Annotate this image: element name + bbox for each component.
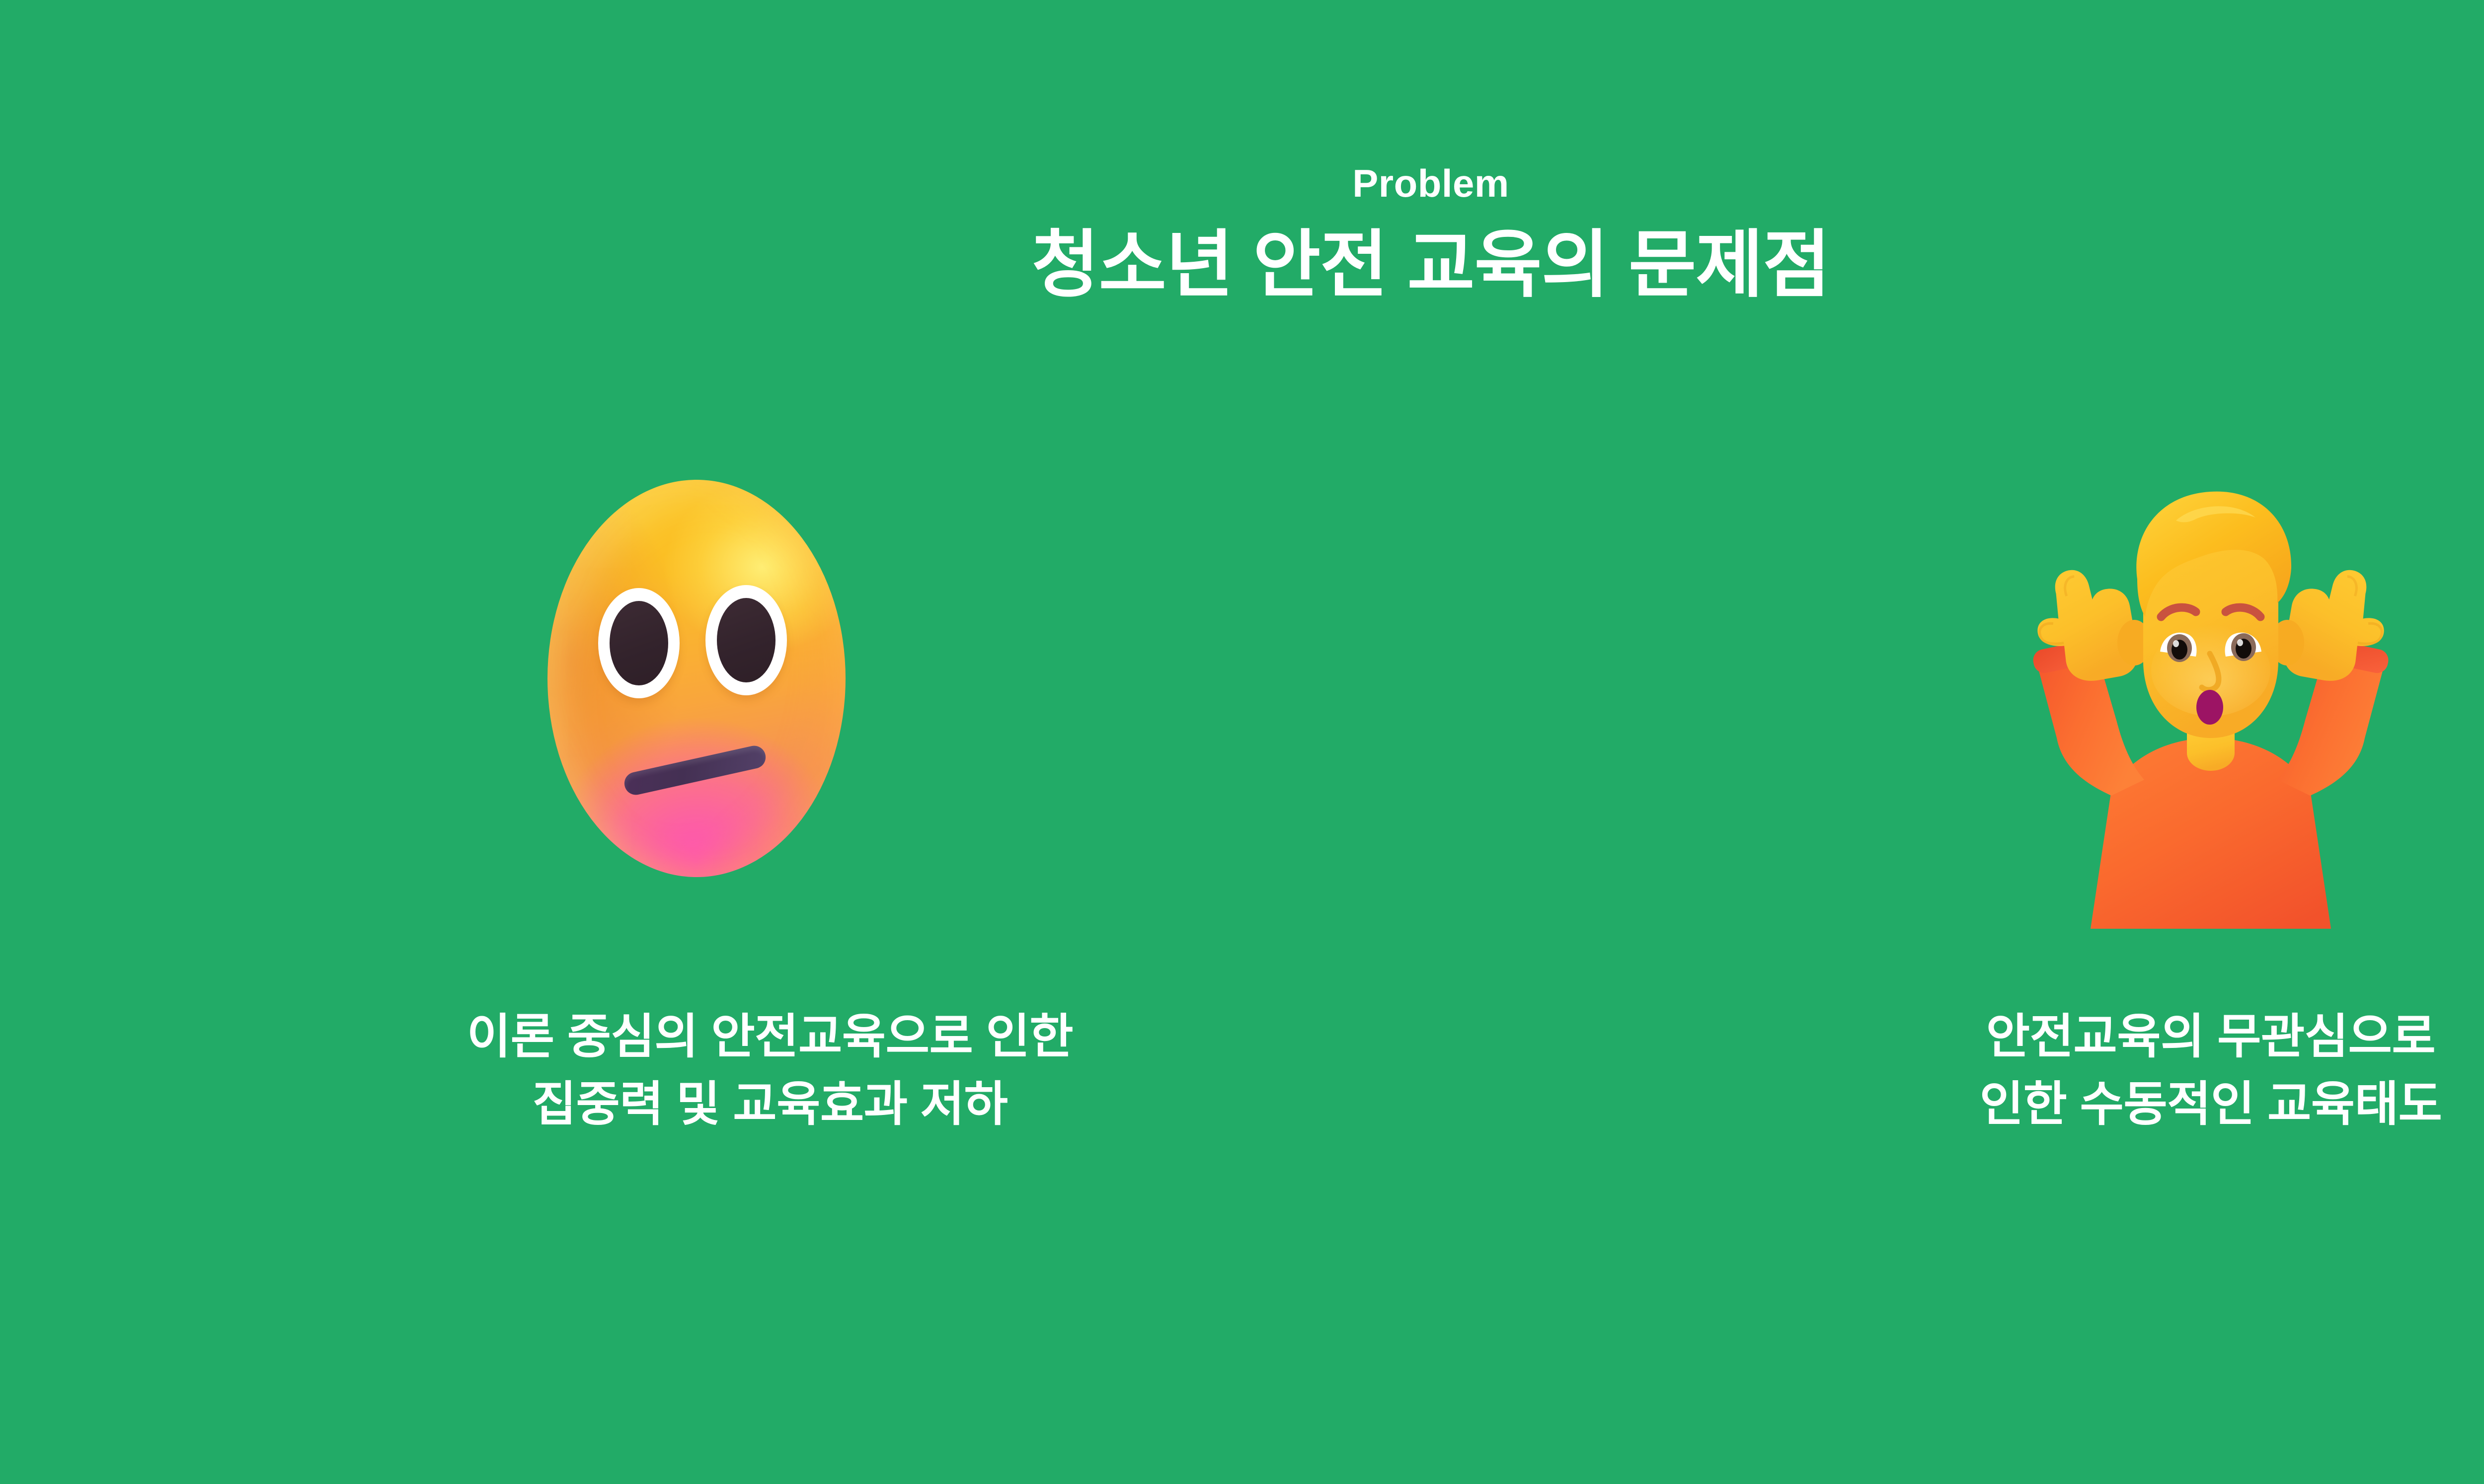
caption-line: 집중력 및 교육효과 저하 [467, 1071, 1073, 1138]
problem-caption-indifference: 안전교육의 무관심으로 인한 수동적인 교육태도 [1980, 1003, 2442, 1139]
problem-caption-theory: 이론 중심의 안전교육으로 인한 집중력 및 교육효과 저하 [467, 1003, 1073, 1139]
emoji-mouth-straight [622, 743, 768, 797]
problem-columns: 이론 중심의 안전교육으로 인한 집중력 및 교육효과 저하 [0, 462, 2484, 1207]
caption-line: 이론 중심의 안전교육으로 인한 [467, 1003, 1073, 1071]
emoji-pupil-right [717, 598, 776, 682]
problem-column-theory: 이론 중심의 안전교육으로 인한 집중력 및 교육효과 저하 [0, 462, 1485, 1207]
caption-line: 인한 수동적인 교육태도 [1980, 1071, 2442, 1138]
straight-face-emoji [522, 462, 1018, 964]
emoji-pupil-left [610, 601, 668, 685]
caption-line: 안전교육의 무관심으로 [1980, 1003, 2442, 1071]
problem-column-indifference: 안전교육의 무관심으로 인한 수동적인 교육태도 [1485, 462, 2484, 1207]
person-shrugging-emoji [1962, 462, 2459, 964]
slide-header: Problem 청소년 안전 교육의 문제점 [0, 164, 2484, 304]
page-title: 청소년 안전 교육의 문제점 [0, 226, 2484, 304]
person-mouth [2196, 690, 2223, 725]
section-eyebrow: Problem [0, 164, 2484, 203]
emoji-face-sphere [547, 480, 846, 877]
slide-root: Problem 청소년 안전 교육의 문제점 이론 중심의 안전교육으로 인한 … [0, 0, 2484, 1484]
emoji-person-shrugging-art [1962, 462, 2459, 964]
